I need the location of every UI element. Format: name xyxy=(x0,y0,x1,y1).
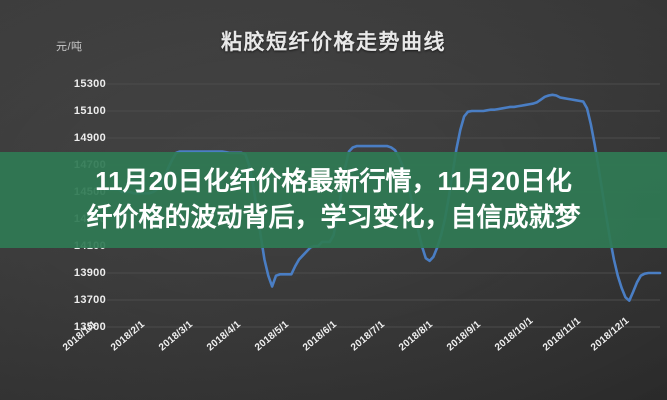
overlay-headline: 11月20日化纤价格最新行情，11月20日化 纤价格的波动背后，学习变化，自信成… xyxy=(0,152,667,248)
x-axis-tick: 2018/4/1 xyxy=(205,319,243,353)
x-axis-tick: 2018/9/1 xyxy=(445,319,483,353)
x-axis-tick: 2018/12/1 xyxy=(589,315,632,353)
x-axis-tick: 2018/11/1 xyxy=(541,316,583,354)
x-axis-tick: 2018/5/1 xyxy=(253,319,291,353)
overlay-headline-line-2: 纤价格的波动背后，学习变化，自信成就梦 xyxy=(86,200,580,236)
x-axis-tick: 2018/10/1 xyxy=(493,315,536,353)
x-axis-tick: 2018/6/1 xyxy=(301,319,339,353)
x-axis-tick: 2018/3/1 xyxy=(157,319,195,353)
x-axis-tick: 2018/7/1 xyxy=(349,319,387,353)
overlay-headline-line-1: 11月20日化纤价格最新行情，11月20日化 xyxy=(95,164,572,200)
x-axis-tick: 2018/1/1 xyxy=(61,319,99,353)
x-axis-tick: 2018/8/1 xyxy=(397,319,435,353)
screenshot-stage: 粘胶短纤价格走势曲线 元/吨 1530015100149001470014500… xyxy=(0,0,667,400)
x-axis-tick: 2018/2/1 xyxy=(109,319,147,353)
